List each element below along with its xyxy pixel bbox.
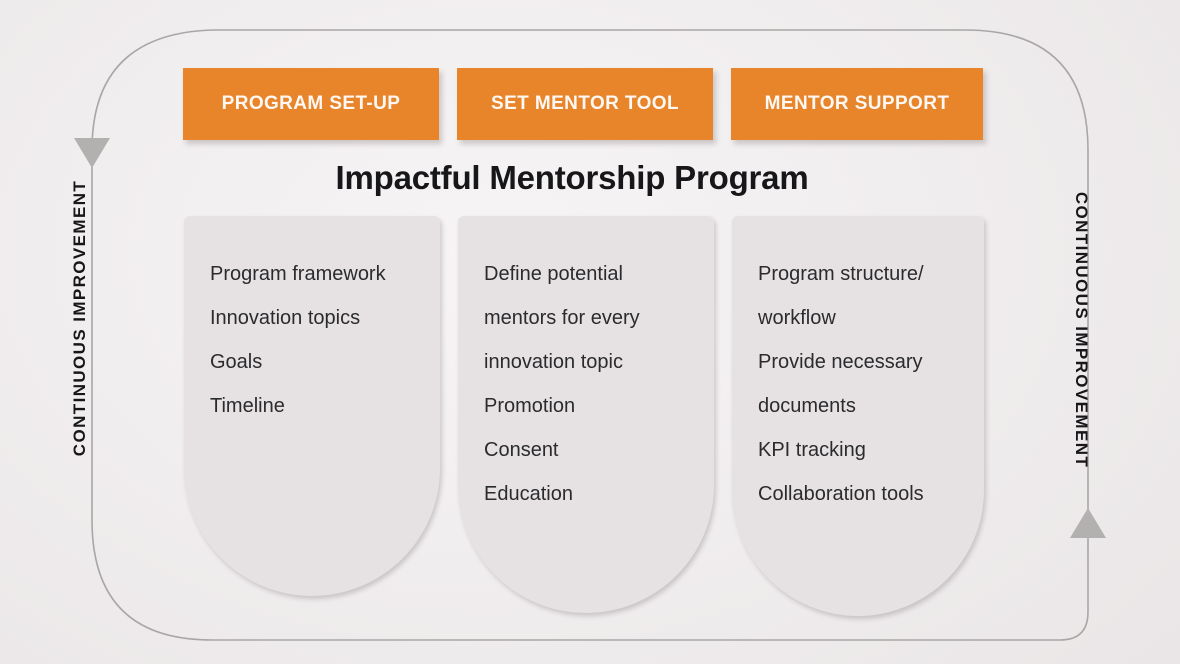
list-item: Education: [484, 472, 714, 516]
list-item: Program structure/: [758, 252, 984, 296]
list-item: KPI tracking: [758, 428, 984, 472]
list-item: Promotion: [484, 384, 714, 428]
tab-program-set-up[interactable]: PROGRAM SET-UP: [183, 68, 439, 140]
list-item: Consent: [484, 428, 714, 472]
list-item: Goals: [210, 340, 440, 384]
right-continuous-improvement-label: CONTINUOUS IMPROVEMENT: [1071, 192, 1091, 468]
list-item: Provide necessary: [758, 340, 984, 384]
card-set-mentor-tool: Define potential mentors for every innov…: [458, 216, 714, 613]
left-continuous-improvement-label: CONTINUOUS IMPROVEMENT: [70, 180, 90, 456]
list-item: Define potential: [484, 252, 714, 296]
slide-canvas: PROGRAM SET-UP SET MENTOR TOOL MENTOR SU…: [0, 0, 1180, 664]
arrow-up-icon: [1070, 508, 1106, 538]
tab-label: MENTOR SUPPORT: [765, 93, 950, 115]
column-tab-bar: PROGRAM SET-UP SET MENTOR TOOL MENTOR SU…: [183, 68, 983, 140]
list-item: mentors for every: [484, 296, 714, 340]
list-item: innovation topic: [484, 340, 714, 384]
list-item: Program framework: [210, 252, 440, 296]
page-title: Impactful Mentorship Program: [0, 159, 1162, 197]
tab-label: PROGRAM SET-UP: [222, 93, 401, 115]
tab-mentor-support[interactable]: MENTOR SUPPORT: [731, 68, 983, 140]
list-item: Innovation topics: [210, 296, 440, 340]
card-mentor-support: Program structure/ workflow Provide nece…: [732, 216, 984, 616]
list-item: documents: [758, 384, 984, 428]
tab-label: SET MENTOR TOOL: [491, 93, 679, 115]
tab-set-mentor-tool[interactable]: SET MENTOR TOOL: [457, 68, 713, 140]
card-program-set-up: Program framework Innovation topics Goal…: [184, 216, 440, 596]
list-item: Collaboration tools: [758, 472, 984, 516]
list-item: Timeline: [210, 384, 440, 428]
list-item: workflow: [758, 296, 984, 340]
